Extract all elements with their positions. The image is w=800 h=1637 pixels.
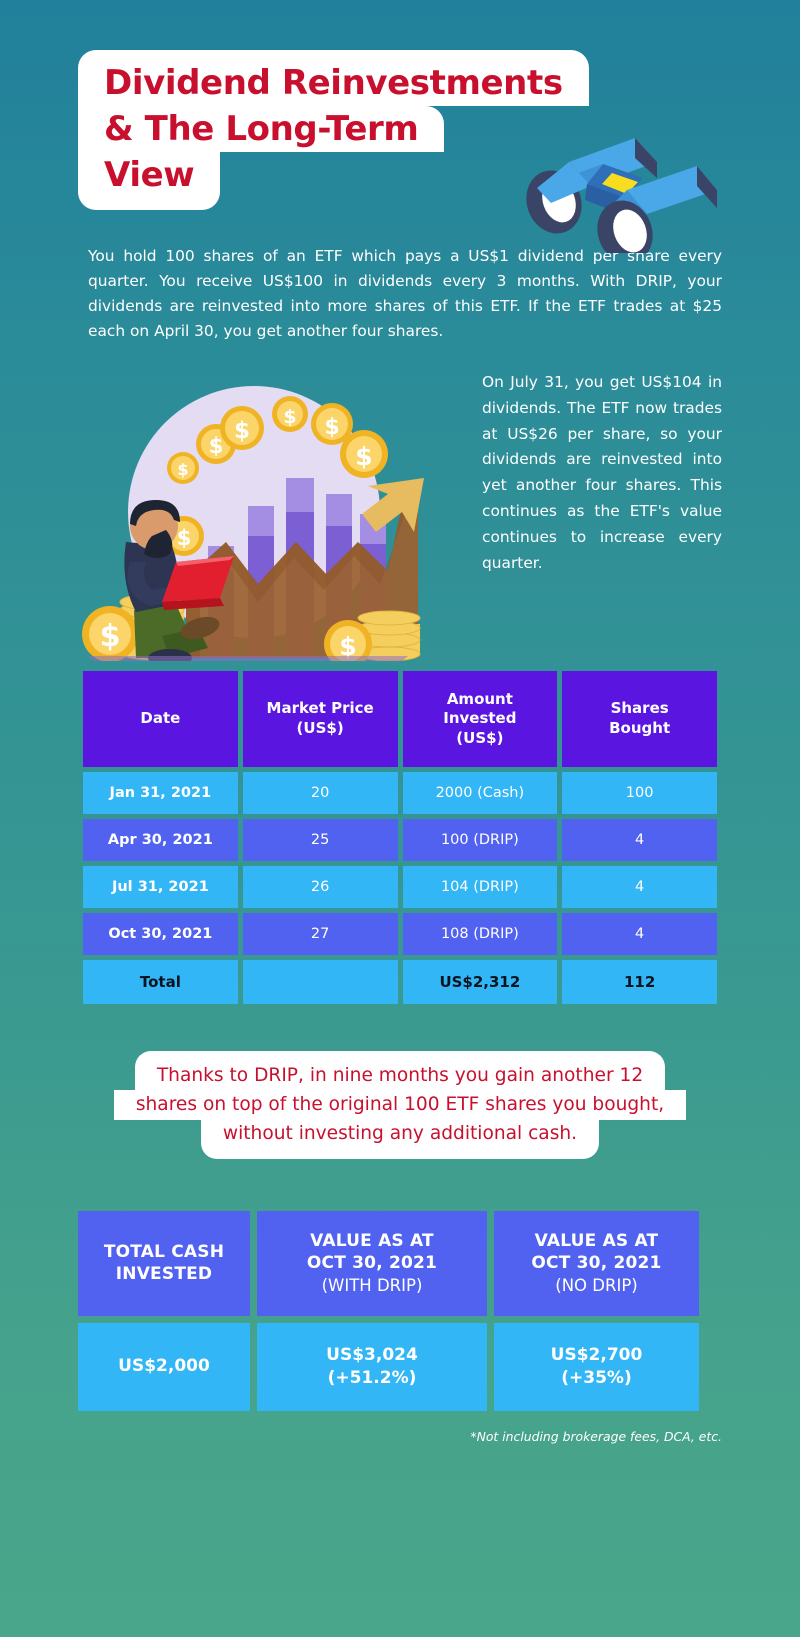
cell-total-amount: US$2,312 — [403, 960, 558, 1004]
cell-price: 20 — [243, 772, 398, 814]
summary-value-row: US$2,000 US$3,024 (+51.2%) US$2,700 (+35… — [78, 1323, 722, 1411]
header-section: Dividend Reinvestments & The Long-Term V… — [0, 0, 800, 210]
title-line-2: & The Long-Term — [78, 106, 444, 152]
cell-date: Oct 30, 2021 — [83, 913, 238, 955]
header-price-line-1: Market Price — [247, 699, 394, 719]
card2-head-line-1: VALUE AS AT — [310, 1230, 434, 1252]
table-row: Jan 31, 2021 20 2000 (Cash) 100 — [83, 772, 717, 814]
cell-amount: 100 (DRIP) — [403, 819, 558, 861]
cell-shares: 4 — [562, 866, 717, 908]
binoculars-icon — [507, 128, 722, 253]
illustration-and-text-row: $ $ $ $ $ $ $ $ — [0, 366, 800, 666]
cell-shares: 4 — [562, 913, 717, 955]
cell-amount: 2000 (Cash) — [403, 772, 558, 814]
cell-total-price — [243, 960, 398, 1004]
header-date-line-1: Date — [87, 709, 234, 729]
cell-total-shares: 112 — [562, 960, 717, 1004]
cell-amount: 108 (DRIP) — [403, 913, 558, 955]
card2-head-line-2: OCT 30, 2021 — [307, 1252, 437, 1274]
cell-amount: 104 (DRIP) — [403, 866, 558, 908]
cell-price: 27 — [243, 913, 398, 955]
summary-card-header-no-drip: VALUE AS AT OCT 30, 2021 (NO DRIP) — [494, 1211, 699, 1316]
svg-text:$: $ — [177, 460, 188, 479]
cell-shares: 100 — [562, 772, 717, 814]
summary-card-value-no-drip: US$2,700 (+35%) — [494, 1323, 699, 1411]
callout-line-1: Thanks to DRIP, in nine months you gain … — [135, 1051, 665, 1090]
svg-text:$: $ — [100, 619, 121, 654]
drip-callout-banner: Thanks to DRIP, in nine months you gain … — [0, 1051, 800, 1159]
svg-text:$: $ — [177, 526, 192, 550]
card3-head-line-3: (NO DRIP) — [555, 1275, 637, 1297]
card1-head-line-1: TOTAL CASH — [104, 1241, 224, 1263]
card3-head-line-2: OCT 30, 2021 — [531, 1252, 661, 1274]
secondary-paragraph: On July 31, you get US$104 in dividends.… — [482, 370, 722, 577]
summary-header-row: TOTAL CASH INVESTED VALUE AS AT OCT 30, … — [78, 1211, 722, 1316]
card1-head-line-2: INVESTED — [116, 1263, 213, 1285]
header-amount-line-2: Invested — [407, 709, 554, 729]
svg-text:$: $ — [355, 442, 372, 471]
footnote: *Not including brokerage fees, DCA, etc. — [0, 1429, 722, 1444]
table-header-amount-invested: Amount Invested (US$) — [403, 671, 558, 767]
table-total-row: Total US$2,312 112 — [83, 960, 717, 1004]
summary-card-header-total-cash-invested: TOTAL CASH INVESTED — [78, 1211, 250, 1316]
header-price-line-2: (US$) — [247, 719, 394, 739]
cell-date: Apr 30, 2021 — [83, 819, 238, 861]
card3-value-line-2: (+35%) — [561, 1367, 631, 1390]
investor-growth-chart-illustration: $ $ $ $ $ $ $ $ — [58, 366, 438, 661]
svg-text:$: $ — [283, 406, 296, 428]
callout-line-2: shares on top of the original 100 ETF sh… — [114, 1090, 686, 1120]
header-amount-line-1: Amount — [407, 690, 554, 710]
callout-line-3: without investing any additional cash. — [201, 1120, 599, 1159]
summary-card-header-with-drip: VALUE AS AT OCT 30, 2021 (WITH DRIP) — [257, 1211, 487, 1316]
cell-price: 25 — [243, 819, 398, 861]
intro-paragraph: You hold 100 shares of an ETF which pays… — [88, 244, 722, 344]
table-row: Oct 30, 2021 27 108 (DRIP) 4 — [83, 913, 717, 955]
summary-card-value-total-cash-invested: US$2,000 — [78, 1323, 250, 1411]
card2-head-line-3: (WITH DRIP) — [322, 1275, 423, 1297]
drip-table: Date Market Price (US$) Amount Invested … — [78, 666, 722, 1009]
cell-date: Jul 31, 2021 — [83, 866, 238, 908]
card1-value-line-1: US$2,000 — [118, 1355, 210, 1378]
table-header-shares-bought: Shares Bought — [562, 671, 717, 767]
table-row: Jul 31, 2021 26 104 (DRIP) 4 — [83, 866, 717, 908]
svg-text:$: $ — [234, 418, 250, 444]
cell-price: 26 — [243, 866, 398, 908]
header-shares-line-1: Shares — [566, 699, 713, 719]
header-shares-line-2: Bought — [566, 719, 713, 739]
card3-value-line-1: US$2,700 — [551, 1344, 643, 1367]
title-line-1: Dividend Reinvestments — [78, 50, 589, 106]
table-header-date: Date — [83, 671, 238, 767]
svg-text:$: $ — [324, 415, 339, 440]
summary-cards: TOTAL CASH INVESTED VALUE AS AT OCT 30, … — [78, 1211, 722, 1411]
cell-shares: 4 — [562, 819, 717, 861]
card2-value-line-1: US$3,024 — [326, 1344, 418, 1367]
table-row: Apr 30, 2021 25 100 (DRIP) 4 — [83, 819, 717, 861]
table-header-row: Date Market Price (US$) Amount Invested … — [83, 671, 717, 767]
svg-text:$: $ — [209, 434, 224, 458]
table-header-market-price: Market Price (US$) — [243, 671, 398, 767]
title-line-3: View — [78, 152, 220, 210]
card2-value-line-2: (+51.2%) — [328, 1367, 417, 1390]
cell-date: Jan 31, 2021 — [83, 772, 238, 814]
header-amount-line-3: (US$) — [407, 729, 554, 749]
summary-card-value-with-drip: US$3,024 (+51.2%) — [257, 1323, 487, 1411]
card3-head-line-1: VALUE AS AT — [535, 1230, 659, 1252]
cell-total-label: Total — [83, 960, 238, 1004]
